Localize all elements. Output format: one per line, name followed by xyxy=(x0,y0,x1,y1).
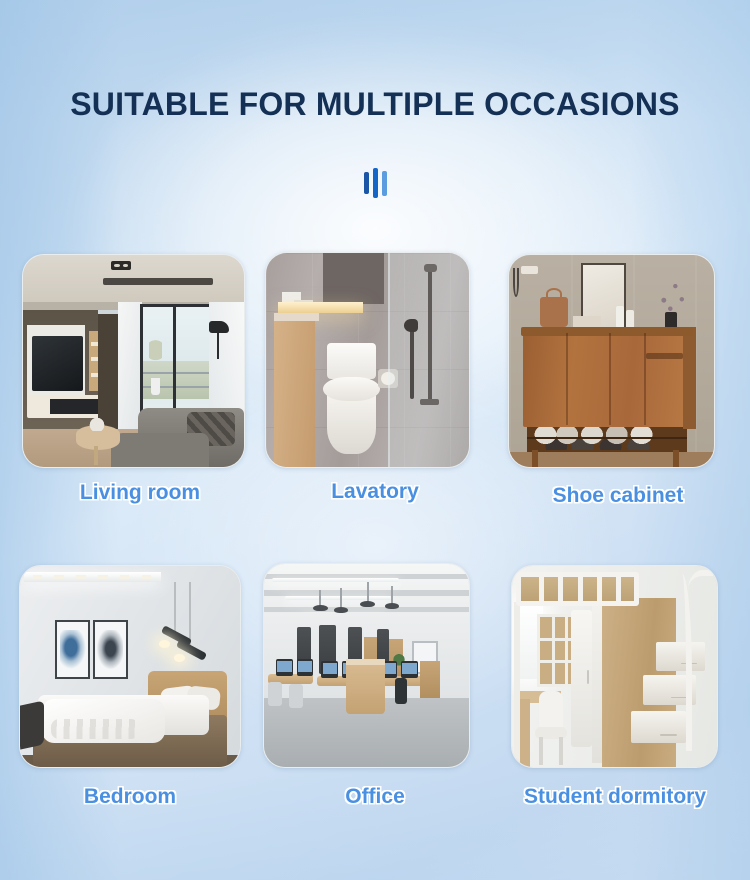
lavatory-photo xyxy=(266,253,469,467)
bedroom-photo xyxy=(20,566,240,767)
occasion-label-bedroom: Bedroom xyxy=(0,785,270,809)
occasion-label-student-dormitory: Student dormitory xyxy=(475,785,750,809)
living-room-photo xyxy=(23,255,244,467)
occasion-image-lavatory[interactable] xyxy=(265,252,470,468)
shoe-cabinet-photo xyxy=(509,255,714,467)
occasion-image-living-room[interactable] xyxy=(22,254,245,468)
occasion-label-office: Office xyxy=(235,785,515,809)
promo-banner: SUITABLE FOR MULTIPLE OCCASIONS xyxy=(0,0,750,880)
occasion-label-lavatory: Lavatory xyxy=(235,480,515,504)
occasion-image-bedroom[interactable] xyxy=(19,565,241,768)
student-dormitory-photo xyxy=(512,566,717,767)
occasion-grid: Living room xyxy=(0,0,750,880)
occasion-label-shoe-cabinet: Shoe cabinet xyxy=(478,484,750,508)
occasion-image-shoe-cabinet[interactable] xyxy=(508,254,715,468)
occasion-image-office[interactable] xyxy=(263,563,470,768)
occasion-image-student-dormitory[interactable] xyxy=(511,565,718,768)
office-photo xyxy=(264,564,469,767)
